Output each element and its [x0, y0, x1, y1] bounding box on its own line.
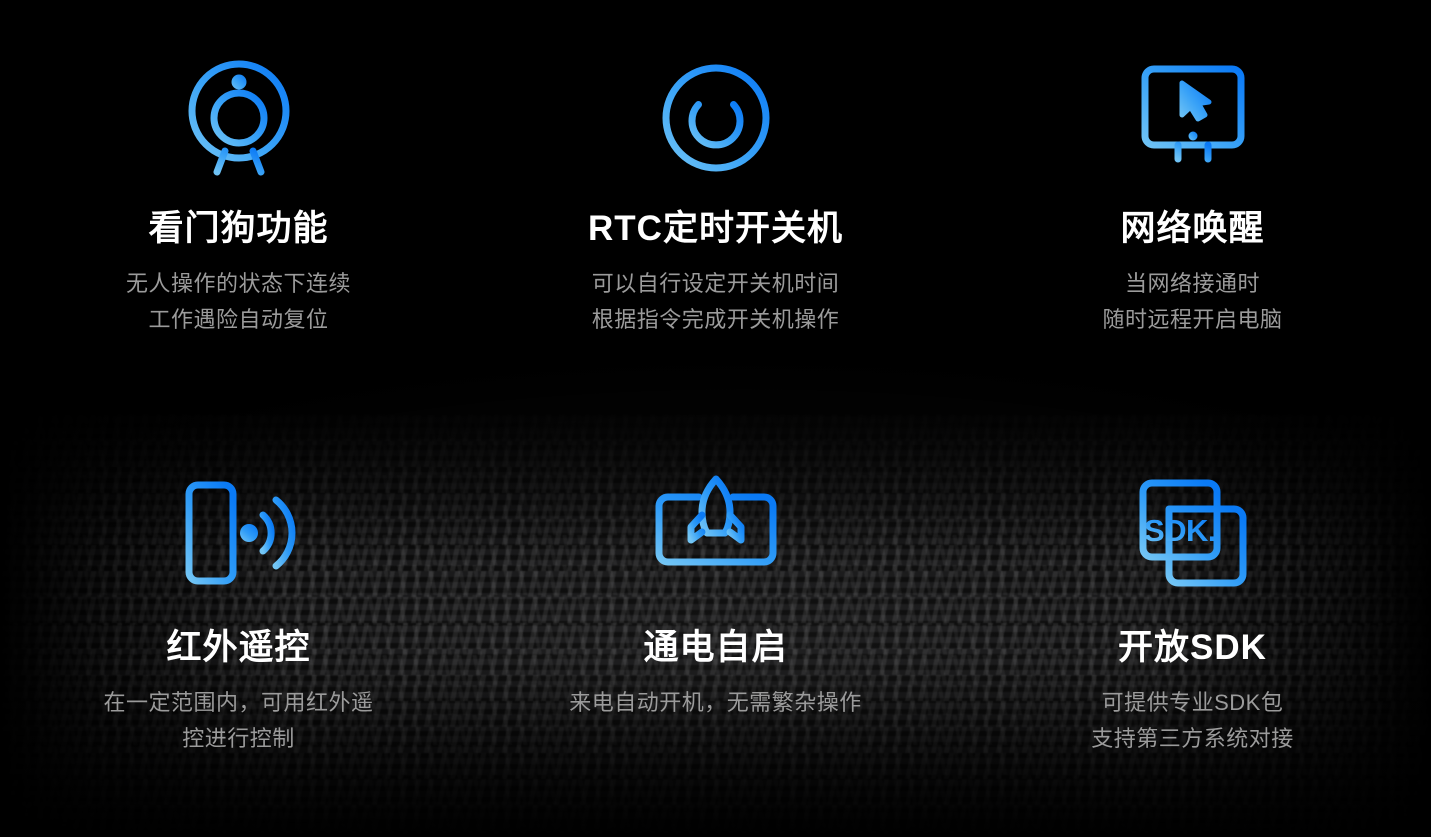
feature-grid-page: 看门狗功能 无人操作的状态下连续 工作遇险自动复位 RTC定时开关机 可以自行设… [0, 0, 1431, 837]
feature-card-watchdog[interactable]: 看门狗功能 无人操作的状态下连续 工作遇险自动复位 [0, 0, 477, 419]
feature-card-rtc[interactable]: RTC定时开关机 可以自行设定开关机时间 根据指令完成开关机操作 [477, 0, 954, 419]
feature-title: 开放SDK [1118, 629, 1267, 668]
feature-description-line: 可以自行设定开关机时间 [592, 266, 840, 302]
monitor-rocket-icon [655, 471, 777, 595]
feature-title: RTC定时开关机 [588, 210, 843, 249]
feature-description: 可提供专业SDK包 支持第三方系统对接 [1091, 685, 1294, 757]
feature-description: 在一定范围内，可用红外遥 控进行控制 [103, 685, 373, 757]
sdk-icon-label: SDK. [1143, 513, 1215, 548]
feature-description-line: 支持第三方系统对接 [1091, 721, 1294, 757]
feature-description-line: 可提供专业SDK包 [1091, 685, 1294, 721]
feature-description-line: 来电自动开机，无需繁杂操作 [569, 685, 862, 721]
feature-title: 网络唤醒 [1120, 210, 1264, 249]
feature-card-auto-power-on[interactable]: 通电自启 来电自动开机，无需繁杂操作 [477, 419, 954, 837]
feature-description: 来电自动开机，无需繁杂操作 [569, 685, 862, 721]
sdk-windows-icon: SDK. [1139, 471, 1247, 595]
feature-title: 通电自启 [643, 629, 787, 668]
webcam-icon [187, 56, 291, 180]
feature-description: 无人操作的状态下连续 工作遇险自动复位 [126, 266, 351, 338]
monitor-cursor-icon [1141, 56, 1245, 180]
feature-description-line: 根据指令完成开关机操作 [592, 302, 840, 338]
feature-card-ir-remote[interactable]: 红外遥控 在一定范围内，可用红外遥 控进行控制 [0, 419, 477, 837]
feature-description-line: 控进行控制 [103, 721, 373, 757]
feature-description-line: 随时远程开启电脑 [1102, 302, 1282, 338]
feature-card-wake-on-lan[interactable]: 网络唤醒 当网络接通时 随时远程开启电脑 [954, 0, 1431, 419]
feature-grid: 看门狗功能 无人操作的状态下连续 工作遇险自动复位 RTC定时开关机 可以自行设… [0, 0, 1431, 837]
remote-control-signal-icon [185, 471, 293, 595]
feature-description-line: 在一定范围内，可用红外遥 [103, 685, 373, 721]
feature-card-open-sdk[interactable]: SDK. 开放SDK 可提供专业SDK包 支持第三方系统对接 [954, 419, 1431, 837]
feature-description-line: 当网络接通时 [1102, 266, 1282, 302]
feature-description-line: 无人操作的状态下连续 [126, 266, 351, 302]
feature-description: 可以自行设定开关机时间 根据指令完成开关机操作 [592, 266, 840, 338]
feature-title: 红外遥控 [166, 629, 310, 668]
power-button-icon [662, 56, 770, 180]
feature-description-line: 工作遇险自动复位 [126, 302, 351, 338]
feature-description: 当网络接通时 随时远程开启电脑 [1102, 266, 1282, 338]
feature-title: 看门狗功能 [148, 210, 328, 249]
